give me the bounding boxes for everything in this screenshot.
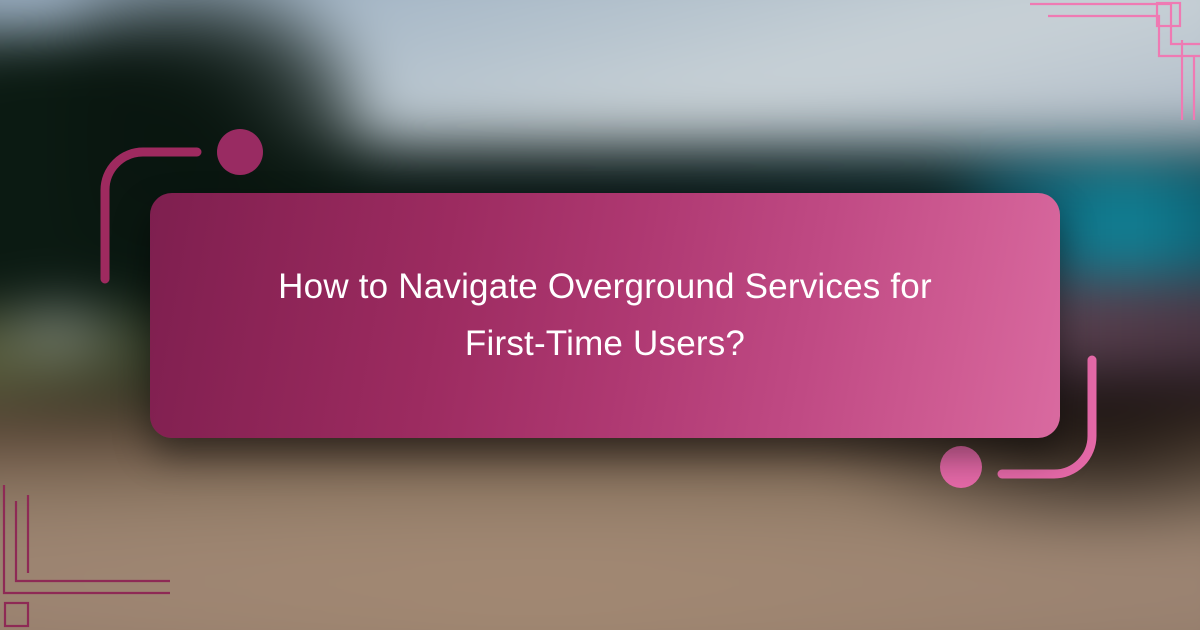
page-title: How to Navigate Overground Services for … (211, 259, 999, 372)
title-card: How to Navigate Overground Services for … (150, 193, 1060, 438)
social-card-banner: How to Navigate Overground Services for … (0, 0, 1200, 630)
background-light-blob (0, 285, 151, 375)
